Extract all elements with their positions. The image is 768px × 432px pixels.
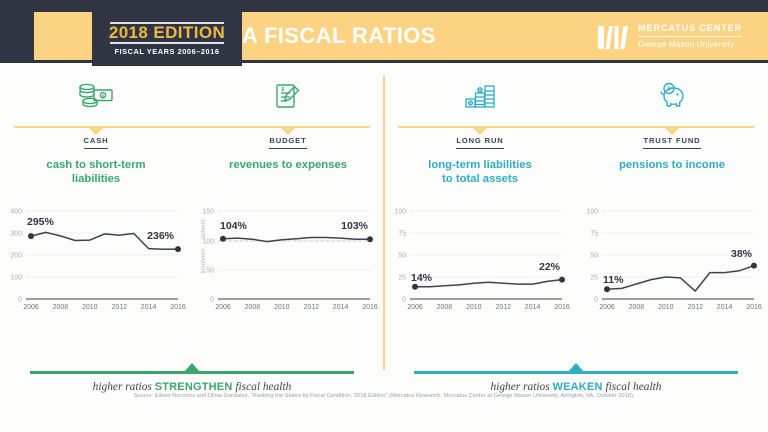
panel-group-strengthen: $ CASH cash to short-term liabilities: [0, 63, 384, 432]
svg-text:2012: 2012: [495, 304, 511, 311]
svg-text:2014: 2014: [717, 304, 733, 311]
svg-text:2006: 2006: [215, 304, 231, 311]
svg-text:2014: 2014: [141, 304, 157, 311]
start-value-label: 11%: [603, 274, 624, 286]
banner-up-triangle-icon: [183, 363, 201, 373]
logo-subtitle: George Mason University: [638, 40, 742, 48]
infographic-page: 2018 EDITION FISCAL YEARS 2006–2016 IOWA…: [0, 0, 768, 432]
header-bar: 2018 EDITION FISCAL YEARS 2006–2016 IOWA…: [0, 0, 768, 72]
svg-text:2014: 2014: [333, 304, 349, 311]
badge-subtitle: FISCAL YEARS 2006–2016: [92, 47, 242, 56]
panel-subtitle-budget: revenues to expenses: [192, 158, 384, 172]
panel-rule: [398, 126, 576, 128]
subtitle-line-2: to total assets: [384, 172, 576, 186]
end-value-label: 103%: [341, 220, 369, 232]
source-citation: Source: Eileen Norcross and Olivia Gonza…: [0, 393, 768, 399]
svg-text:$: $: [668, 87, 671, 93]
svg-text:0: 0: [210, 297, 214, 304]
svg-text:75: 75: [398, 231, 406, 238]
panel-notch: [281, 128, 295, 135]
svg-text:50: 50: [398, 253, 406, 260]
mercatus-m-icon: [597, 23, 631, 49]
svg-text:2008: 2008: [245, 304, 261, 311]
svg-text:50: 50: [590, 253, 598, 260]
chart-budget: 150 100 50 0 solvent insolvent: [192, 203, 384, 323]
chart-long-run: 100 75 50 25 0 14% 22% 2006: [384, 203, 576, 323]
panel-subtitle-trust-fund: pensions to income: [576, 158, 768, 172]
svg-text:2010: 2010: [658, 304, 674, 311]
svg-text:2006: 2006: [23, 304, 39, 311]
svg-text:75: 75: [590, 231, 598, 238]
svg-text:100: 100: [10, 275, 22, 282]
panel-subtitle-cash: cash to short-term liabilities: [0, 158, 192, 186]
gridlines: [602, 211, 754, 277]
svg-text:2010: 2010: [82, 304, 98, 311]
panel-kicker-budget: BUDGET: [192, 136, 384, 145]
subtitle-line-1: long-term liabilities: [384, 158, 576, 172]
subtitle-line-2: liabilities: [0, 172, 192, 186]
svg-text:150: 150: [202, 209, 214, 216]
svg-text:$: $: [282, 87, 285, 93]
svg-text:2016: 2016: [746, 304, 762, 311]
svg-text:2006: 2006: [407, 304, 423, 311]
cash-stack-icon: $: [0, 79, 192, 113]
axis-annotation-above: solvent: [200, 219, 207, 239]
svg-text:300: 300: [10, 231, 22, 238]
subtitle-line-1: cash to short-term: [0, 158, 192, 172]
subtitle-line-1: pensions to income: [576, 158, 768, 172]
chart-cash: 400 300 200 100 0 295% 236%: [0, 203, 192, 323]
piggy-bank-icon: $: [576, 79, 768, 113]
end-value-label: 22%: [539, 261, 561, 273]
mercatus-logo: MERCATUS CENTER George Mason University: [597, 23, 742, 49]
svg-text:2016: 2016: [362, 304, 378, 311]
end-value-label: 38%: [731, 248, 753, 260]
svg-text:$: $: [102, 93, 105, 98]
end-value-label: 236%: [147, 230, 175, 242]
banner-text-strengthen: higher ratios STRENGTHEN fiscal health: [0, 381, 384, 393]
svg-text:2006: 2006: [599, 304, 615, 311]
panel-group-weaken: $ $ LONG RUN long-term liabilities to to…: [384, 63, 768, 432]
start-value-label: 104%: [220, 220, 248, 232]
svg-text:2016: 2016: [170, 304, 186, 311]
edition-badge: 2018 EDITION FISCAL YEARS 2006–2016: [92, 12, 242, 66]
svg-text:2008: 2008: [629, 304, 645, 311]
svg-text:2010: 2010: [274, 304, 290, 311]
svg-text:2012: 2012: [303, 304, 319, 311]
svg-text:25: 25: [590, 275, 598, 282]
svg-text:0: 0: [594, 297, 598, 304]
panel-subtitle-long-run: long-term liabilities to total assets: [384, 158, 576, 186]
svg-text:2016: 2016: [554, 304, 570, 311]
svg-text:100: 100: [394, 209, 406, 216]
panel-notch: [473, 128, 487, 135]
badge-rule-bottom: [110, 42, 224, 44]
subtitle-line-1: revenues to expenses: [192, 158, 384, 172]
svg-text:2008: 2008: [53, 304, 69, 311]
svg-text:2008: 2008: [437, 304, 453, 311]
banner-text-weaken: higher ratios WEAKEN fiscal health: [384, 381, 768, 393]
svg-text:2014: 2014: [525, 304, 541, 311]
svg-text:2012: 2012: [111, 304, 127, 311]
panel-rule: [14, 126, 192, 128]
long-run-bars-icon: $ $: [384, 79, 576, 113]
svg-text:200: 200: [10, 253, 22, 260]
panel-notch: [89, 128, 103, 135]
svg-text:0: 0: [18, 297, 22, 304]
chart-trust-fund: 100 75 50 25 0 11% 38% 2006: [576, 203, 768, 323]
svg-text:0: 0: [402, 297, 406, 304]
svg-text:400: 400: [10, 209, 22, 216]
svg-text:2010: 2010: [466, 304, 482, 311]
panel-kicker-trust-fund: TRUST FUND: [576, 136, 768, 145]
svg-text:100: 100: [586, 209, 598, 216]
svg-text:50: 50: [206, 268, 214, 275]
panels-container: $ CASH cash to short-term liabilities: [0, 63, 768, 432]
svg-text:2012: 2012: [687, 304, 703, 311]
panel-kicker-cash: CASH: [0, 136, 192, 145]
logo-divider: [638, 36, 742, 37]
svg-text:25: 25: [398, 275, 406, 282]
logo-name: MERCATUS CENTER: [638, 24, 742, 33]
panel-notch: [665, 128, 679, 135]
banner-up-triangle-icon: [567, 363, 585, 373]
budget-document-pencil-icon: $: [192, 79, 384, 113]
axis-annotation-below: insolvent: [200, 249, 207, 274]
start-value-label: 295%: [27, 216, 55, 228]
badge-year: 2018 EDITION: [92, 24, 242, 42]
start-value-label: 14%: [411, 272, 433, 284]
panel-kicker-long-run: LONG RUN: [384, 136, 576, 145]
